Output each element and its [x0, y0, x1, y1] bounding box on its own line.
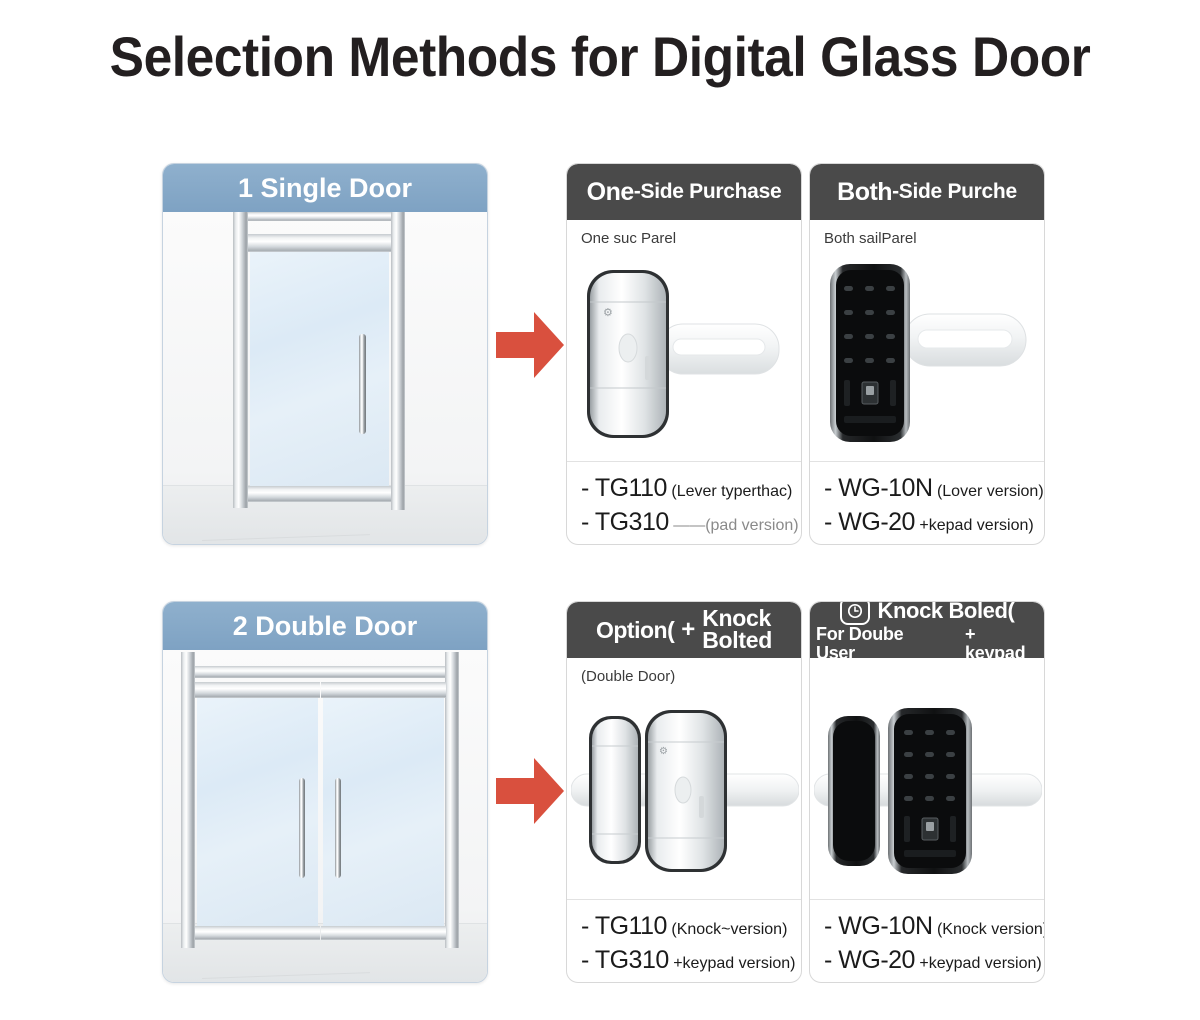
option-caption-1: - TG110 (Knock~version): [581, 912, 793, 941]
double-glass-door-illustration: [163, 650, 487, 982]
header-row-2-right: + keypad: [965, 625, 1038, 662]
door-card-single: 1 Single Door: [162, 163, 488, 545]
door-card-double-title: 2 Double Door: [163, 602, 487, 650]
door-handle-right: [335, 778, 341, 878]
page-title: Selection Methods for Digital Glass Door: [48, 24, 1152, 89]
header-two-line: Knock Bolted: [702, 608, 772, 651]
option-caption-2: - TG310 ——(pad version): [581, 508, 793, 537]
door-card-double: 2 Double Door: [162, 601, 488, 983]
header-rest: -Side Purche: [892, 180, 1017, 204]
option-caption-1: - TG110 (Lever typerthac): [581, 474, 793, 503]
caption-model: - WG-20: [824, 946, 915, 974]
option-caption-2: - WG-20 +kepad version): [824, 508, 1036, 537]
header-lead: Both: [837, 178, 892, 207]
option-caption-2: - WG-20 +keypad version): [824, 946, 1036, 975]
caption-note: +kepad version): [919, 517, 1033, 534]
arrow-right-icon: [496, 306, 564, 384]
black-keypad-door-lock: [822, 256, 1038, 452]
svg-text:⚙: ⚙: [603, 306, 613, 319]
option-card-one-side-purchase-header: One-Side Purchase: [567, 164, 801, 220]
option-sub-label: One suc Parel: [581, 230, 676, 247]
caption-note: +keypad version): [919, 955, 1041, 972]
header-plus: +: [681, 616, 695, 644]
option-card-knock-bolted: Option( + Knock Bolted (Double Door): [566, 601, 802, 983]
silver-double-door-lock-pair: ⚙: [571, 694, 799, 894]
option-card-both-side-purchase-header: Both-Side Purche: [810, 164, 1044, 220]
caption-note: ——(pad version): [673, 517, 798, 534]
black-keypad-double-lock-pair: [814, 694, 1042, 894]
knock-clock-icon: [840, 601, 870, 625]
door-handle: [359, 334, 366, 434]
header-rest: -Side Purchase: [634, 180, 782, 204]
option-card-both-side-purchase: Both-Side Purche Both sailParel: [809, 163, 1045, 545]
option-card-one-side-purchase: One-Side Purchase One suc Parel: [566, 163, 802, 545]
caption-note: (Lever typerthac): [671, 483, 792, 500]
caption-model: - WG-10N: [824, 912, 933, 940]
option-card-knock-boled-keypad-header: Knock Boled( For Doube User + keypad: [810, 602, 1044, 658]
svg-text:⚙: ⚙: [659, 746, 668, 757]
option-card-knock-bolted-header: Option( + Knock Bolted: [567, 602, 801, 658]
caption-model: - TG110: [581, 474, 667, 502]
header-row-2-left: For Doube User: [816, 625, 943, 662]
caption-note: (Lover version): [937, 483, 1044, 500]
option-sub-label: Both sailParel: [824, 230, 917, 247]
arrow-right-icon: [496, 752, 564, 830]
caption-model: - TG110: [581, 912, 667, 940]
option-caption-2: - TG310 +keypad version): [581, 946, 793, 975]
caption-note: +keypad version): [673, 955, 795, 972]
option-card-knock-boled-keypad: Knock Boled( For Doube User + keypad: [809, 601, 1045, 983]
option-sub-label: (Double Door): [581, 668, 675, 685]
caption-note: (Knock version): [937, 921, 1045, 938]
door-card-single-title: 1 Single Door: [163, 164, 487, 212]
header-lead: One: [587, 178, 634, 207]
silver-glass-door-lock: ⚙: [575, 260, 795, 450]
caption-model: - WG-20: [824, 508, 915, 536]
option-caption-1: - WG-10N (Knock version): [824, 912, 1036, 941]
caption-model: - TG310: [581, 946, 669, 974]
single-glass-door-illustration: [163, 212, 487, 544]
caption-note: (Knock~version): [671, 921, 787, 938]
header-row-1: Knock Boled(: [878, 601, 1015, 623]
door-handle-left: [299, 778, 305, 878]
option-caption-1: - WG-10N (Lover version): [824, 474, 1036, 503]
caption-model: - WG-10N: [824, 474, 933, 502]
caption-model: - TG310: [581, 508, 669, 536]
header-left: Option(: [596, 617, 674, 644]
header-line-2: Bolted: [702, 630, 772, 652]
